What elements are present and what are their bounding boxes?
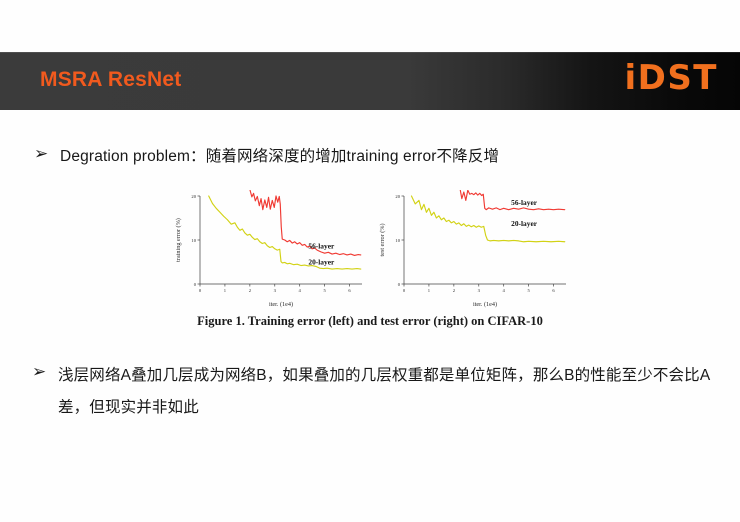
svg-text:10: 10 [395,238,400,243]
svg-text:20-layer: 20-layer [308,258,335,267]
bullet-text-2: 浅层网络A叠加几层成为网络B，如果叠加的几层权重都是单位矩阵，那么B的性能至少不… [58,360,712,424]
figure-block: 012345601020iter. (1e4)training error (%… [170,190,570,335]
svg-text:6: 6 [552,288,555,293]
svg-text:20: 20 [395,194,400,199]
svg-text:3: 3 [274,288,277,293]
chart-test-error: 012345601020iter. (1e4)test error (%)20-… [374,190,570,310]
svg-text:test error (%): test error (%) [379,224,386,257]
svg-text:0: 0 [398,282,401,287]
svg-text:20-layer: 20-layer [511,219,538,228]
arrow-bullet-icon: ➢ [34,142,60,167]
svg-text:1: 1 [224,288,227,293]
figure-caption: Figure 1. Training error (left) and test… [170,314,570,329]
svg-text:56-layer: 56-layer [511,198,538,207]
chart-training-error-svg: 012345601020iter. (1e4)training error (%… [170,190,366,310]
chart-training-error: 012345601020iter. (1e4)training error (%… [170,190,366,310]
svg-text:20: 20 [191,194,196,199]
svg-text:0: 0 [403,288,406,293]
svg-text:4: 4 [299,288,302,293]
slide-canvas: MSRA ResNet iDST ➢ Degration problem：随着网… [0,0,740,522]
svg-text:1: 1 [428,288,431,293]
svg-text:10: 10 [191,238,196,243]
svg-text:iter. (1e4): iter. (1e4) [473,301,497,308]
arrow-bullet-icon: ➢ [32,360,58,385]
header-hairline [0,52,740,53]
brand-logo: iDST [624,58,718,98]
charts-row: 012345601020iter. (1e4)training error (%… [170,190,570,310]
svg-text:3: 3 [478,288,481,293]
bullet-text-1: Degration problem：随着网络深度的增加training erro… [60,142,499,172]
svg-text:4: 4 [503,288,506,293]
bullet-item-2: ➢ 浅层网络A叠加几层成为网络B，如果叠加的几层权重都是单位矩阵，那么B的性能至… [32,360,712,424]
svg-text:2: 2 [249,288,252,293]
svg-text:0: 0 [194,282,197,287]
chart-test-error-svg: 012345601020iter. (1e4)test error (%)20-… [374,190,570,310]
page-title: MSRA ResNet [40,68,181,92]
bullet-item-1: ➢ Degration problem：随着网络深度的增加training er… [34,142,694,172]
svg-text:training error (%): training error (%) [175,218,182,262]
svg-text:2: 2 [453,288,456,293]
svg-text:0: 0 [199,288,202,293]
svg-text:5: 5 [527,288,530,293]
svg-text:iter. (1e4): iter. (1e4) [269,301,293,308]
svg-text:5: 5 [323,288,326,293]
svg-text:6: 6 [348,288,351,293]
svg-text:56-layer: 56-layer [308,241,335,250]
